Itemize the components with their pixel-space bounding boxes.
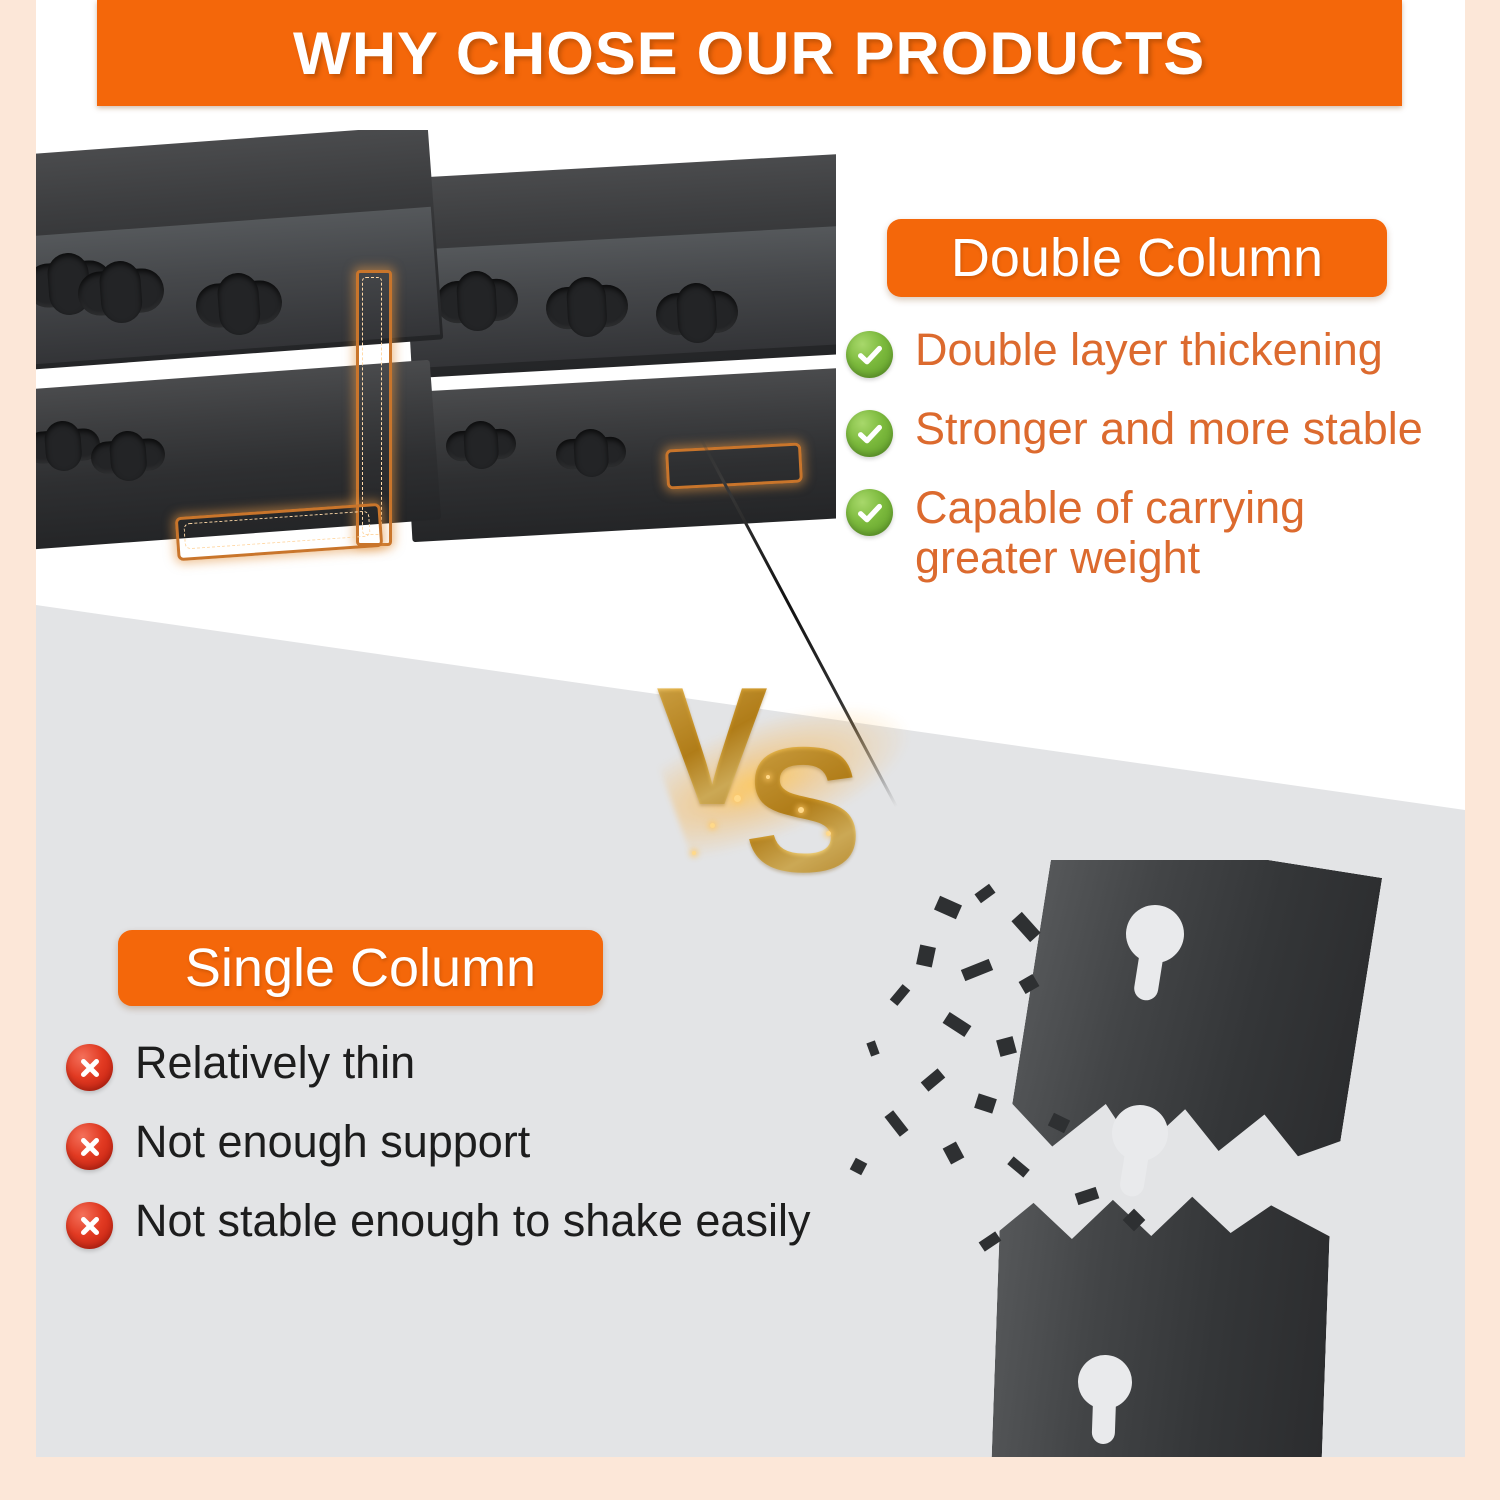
single-column-drawbacks-list: Relatively thin Not enough support (66, 1038, 896, 1275)
broken-post-upper (1000, 860, 1382, 1234)
list-item-label: Not enough support (135, 1117, 530, 1167)
x-circle-icon (66, 1202, 113, 1249)
list-item: Stronger and more stable (846, 404, 1446, 457)
badge-single-column: Single Column (118, 930, 603, 1006)
list-item-label: Not stable enough to shake easily (135, 1196, 810, 1246)
x-circle-icon (66, 1044, 113, 1091)
list-item: Relatively thin (66, 1038, 896, 1091)
frame-border-bottom (0, 1457, 1500, 1500)
list-item-label: Relatively thin (135, 1038, 415, 1088)
list-item-label: Double layer thickening (915, 325, 1383, 375)
list-item: Capable of carrying greater weight (846, 483, 1446, 584)
list-item: Not enough support (66, 1117, 896, 1170)
edge-highlight-rear (665, 442, 803, 489)
double-column-benefits-list: Double layer thickening Stronger and mor… (846, 325, 1446, 610)
list-item-label: Capable of carrying greater weight (915, 483, 1305, 584)
single-column-breaking-photo (826, 860, 1465, 1457)
check-circle-icon (846, 410, 893, 457)
frame-border-left (0, 0, 36, 1500)
list-item: Not stable enough to shake easily (66, 1196, 896, 1249)
check-circle-icon (846, 489, 893, 536)
badge-single-column-label: Single Column (159, 937, 562, 999)
infographic-frame: WHY CHOSE OUR PRODUCTS Double Column Dou… (36, 0, 1465, 1457)
frame-border-right (1465, 0, 1500, 1500)
double-column-product-photo (36, 130, 836, 620)
badge-double-column: Double Column (887, 219, 1387, 297)
list-item: Double layer thickening (846, 325, 1446, 378)
broken-post-lower (991, 1184, 1331, 1457)
check-circle-icon (846, 331, 893, 378)
list-item-label: Stronger and more stable (915, 404, 1423, 454)
header-banner: WHY CHOSE OUR PRODUCTS (97, 0, 1402, 106)
badge-double-column-label: Double Column (925, 227, 1349, 289)
page-title: WHY CHOSE OUR PRODUCTS (293, 19, 1205, 88)
x-circle-icon (66, 1123, 113, 1170)
